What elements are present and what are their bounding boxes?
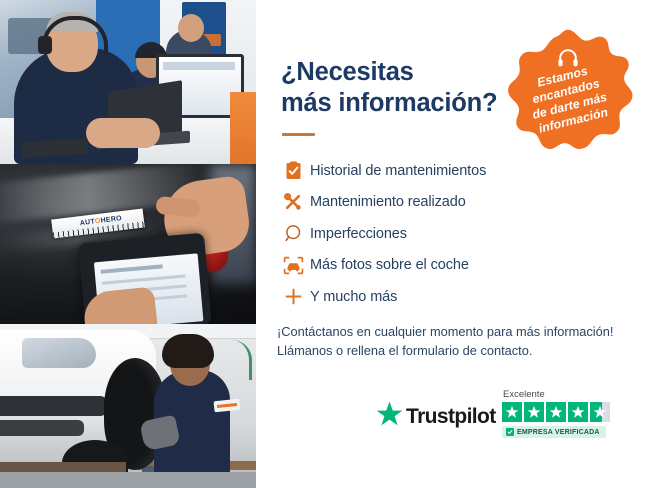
verified-check-icon	[506, 428, 514, 436]
agent-3-head	[178, 14, 204, 42]
feature-item-imperfections: Imperfecciones	[276, 218, 616, 250]
car-photo-icon	[276, 256, 310, 275]
car-grille-lower	[0, 420, 84, 436]
photo-column: AUTOHERO	[0, 0, 256, 488]
feature-label: Imperfecciones	[310, 226, 407, 242]
checklist-icon	[276, 161, 310, 180]
photo-mechanic-wheel	[0, 324, 256, 488]
feature-list: Historial de mantenimientos Mantenimient…	[276, 155, 616, 313]
trustpilot-widget[interactable]: Trustpilot Excelente	[376, 389, 620, 451]
feature-item-maintenance-done: Mantenimiento realizado	[276, 187, 616, 219]
trustpilot-wordmark: Trustpilot	[406, 405, 496, 429]
star-rating	[502, 402, 620, 422]
rating-label: Excelente	[503, 389, 620, 400]
star-filled	[568, 402, 588, 422]
trustpilot-star-icon	[376, 401, 403, 432]
star-filled	[524, 402, 544, 422]
contact-line-1: ¡Contáctanos en cualquier momento para m…	[277, 324, 613, 339]
contact-copy: ¡Contáctanos en cualquier momento para m…	[277, 322, 637, 360]
verified-company-badge: EMPRESA VERIFICADA	[502, 426, 606, 438]
trustpilot-rating: Excelente	[502, 389, 620, 440]
plus-icon	[276, 287, 310, 306]
star-filled	[546, 402, 566, 422]
feature-item-more-photos: Más fotos sobre el coche	[276, 250, 616, 282]
headline-line-1: ¿Necesitas	[281, 58, 414, 86]
headline-line-2: más información?	[281, 89, 497, 117]
photo-call-center-agents	[0, 0, 256, 164]
magnifier-icon	[276, 224, 310, 243]
verified-label: EMPRESA VERIFICADA	[517, 429, 600, 436]
feature-label: Mantenimiento realizado	[310, 194, 466, 210]
feature-label: Más fotos sobre el coche	[310, 257, 469, 273]
promo-banner: AUTOHERO	[0, 0, 650, 488]
agent-1-arm	[86, 118, 160, 148]
page-title: ¿Necesitasmás información?	[281, 57, 497, 119]
car-grille-upper	[0, 396, 108, 416]
workshop-hose	[215, 340, 252, 380]
tools-icon	[276, 192, 310, 212]
orange-chair	[230, 92, 256, 164]
star-filled	[502, 402, 522, 422]
feature-label: Y mucho más	[310, 289, 397, 305]
title-divider	[282, 133, 315, 136]
trustpilot-logo: Trustpilot	[376, 401, 496, 432]
starburst-badge: Estamos encantados de darte más informac…	[500, 27, 635, 162]
feature-label: Historial de mantenimientos	[310, 163, 486, 179]
mechanic-hair	[162, 334, 214, 368]
star-partial	[590, 402, 610, 422]
contact-line-2: Llámanos o rellena el formulario de cont…	[277, 343, 532, 358]
headset-earcup	[38, 36, 52, 54]
photo-inspection-ruler: AUTOHERO	[0, 164, 256, 324]
feature-item-much-more: Y mucho más	[276, 281, 616, 313]
lift-platform	[0, 472, 256, 488]
car-headlight	[22, 338, 96, 368]
